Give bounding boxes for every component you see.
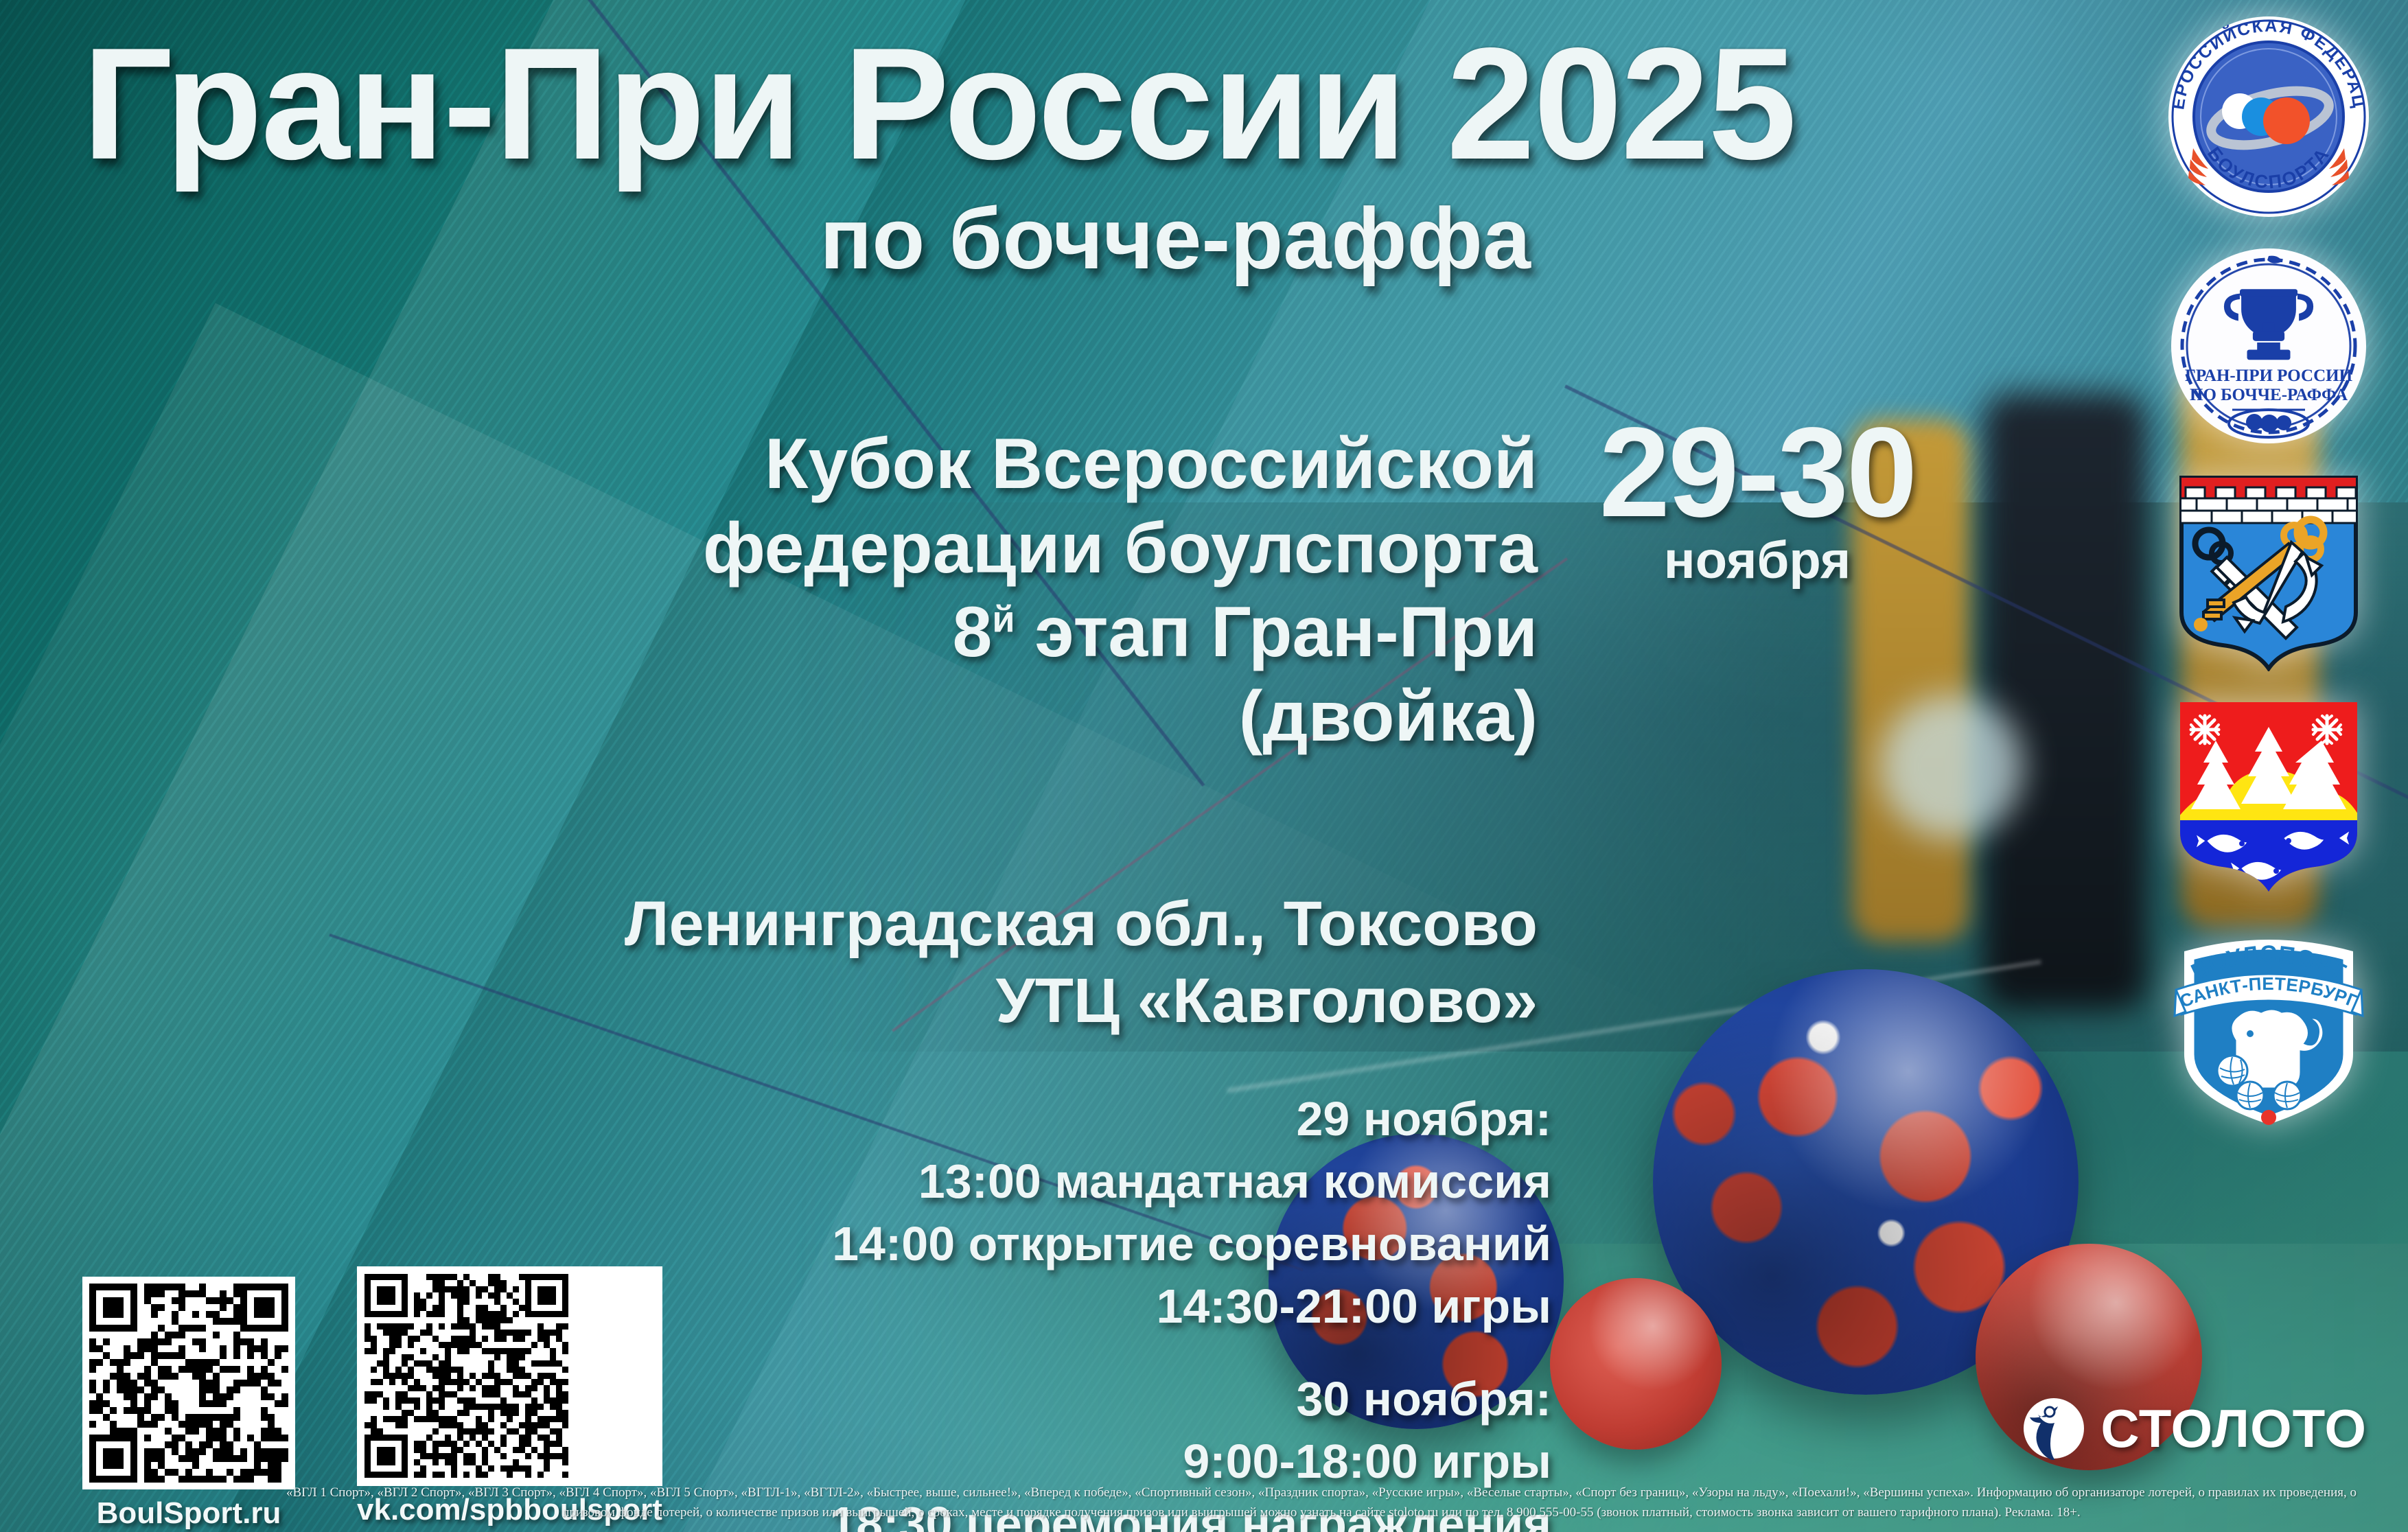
stoloto-wordmark: СТОЛОТО: [2100, 1397, 2367, 1460]
event-location: Ленинградская обл., Токсово УТЦ «Кавголо…: [412, 885, 1538, 1039]
lottery-fineprint: «ВГЛ 1 Спорт», «ВГЛ 2 Спорт», «ВГЛ 3 Спо…: [275, 1483, 2368, 1523]
event-dates: 29-30 ноября: [1565, 412, 1949, 590]
stage-rest: этап Гран-При: [1015, 592, 1538, 672]
toksovo-coat-of-arms: [2176, 698, 2361, 901]
grandprix-logo-line-2: ПО БОЧЧЕ-РАФФА: [2190, 386, 2348, 404]
logo-column: ВСЕРОССИЙСКАЯ ФЕДЕРАЦИЯ БОУЛСПОРТА: [2155, 14, 2382, 1157]
bowlsport-spb-logo: БОУЛСПОРТ САНКТ-ПЕТЕРБУРГ: [2169, 924, 2368, 1133]
cup-line-1: Кубок Всероссийской: [412, 422, 1538, 507]
stage-line: 8й этап Гран-При: [412, 590, 1538, 675]
event-days: 29-30: [1565, 412, 1949, 535]
stoloto-sponsor-logo: СТОЛОТО: [2022, 1397, 2367, 1460]
qr-code-site-label: BoulSport.ru: [82, 1496, 295, 1531]
location-line-2: УТЦ «Кавголово»: [412, 962, 1538, 1039]
title-year: 2025: [1446, 15, 1795, 193]
stage-superscript: й: [992, 599, 1015, 640]
poster-root: Гран-При России2025 по бочче-раффа Кубок…: [0, 0, 2408, 1532]
stage-number: 8: [952, 592, 992, 672]
leningrad-oblast-coat-of-arms: [2176, 472, 2361, 675]
cup-line-2: федерации боулспорта: [412, 507, 1538, 591]
stoloto-mark-icon: [2022, 1397, 2085, 1460]
qr-code-vk[interactable]: [357, 1266, 662, 1486]
schedule-day1-item: 13:00 мандатная комиссия: [481, 1150, 1551, 1213]
qr-code-site-block[interactable]: BoulSport.ru: [82, 1277, 295, 1531]
schedule-day1-header: 29 ноября:: [481, 1088, 1551, 1150]
cup-block: Кубок Всероссийской федерации боулспорта…: [412, 422, 1538, 759]
poster-title: Гран-При России2025: [82, 12, 1795, 196]
grandprix-logo-line-1: ГРАН-ПРИ РОССИИ: [2185, 367, 2353, 385]
location-line-1: Ленинградская обл., Токсово: [412, 885, 1538, 962]
title-text: Гран-При России: [82, 15, 1405, 193]
qr-code-site[interactable]: [82, 1277, 295, 1489]
stage-format: (двойка): [412, 675, 1538, 759]
poster-subtitle: по бочче-раффа: [82, 189, 1531, 288]
russian-bowlsport-federation-logo: ВСЕРОССИЙСКАЯ ФЕДЕРАЦИЯ БОУЛСПОРТА: [2166, 14, 2372, 223]
grand-prix-russia-raffa-logo: ГРАН-ПРИ РОССИИ ПО БОЧЧЕ-РАФФА: [2169, 246, 2368, 449]
